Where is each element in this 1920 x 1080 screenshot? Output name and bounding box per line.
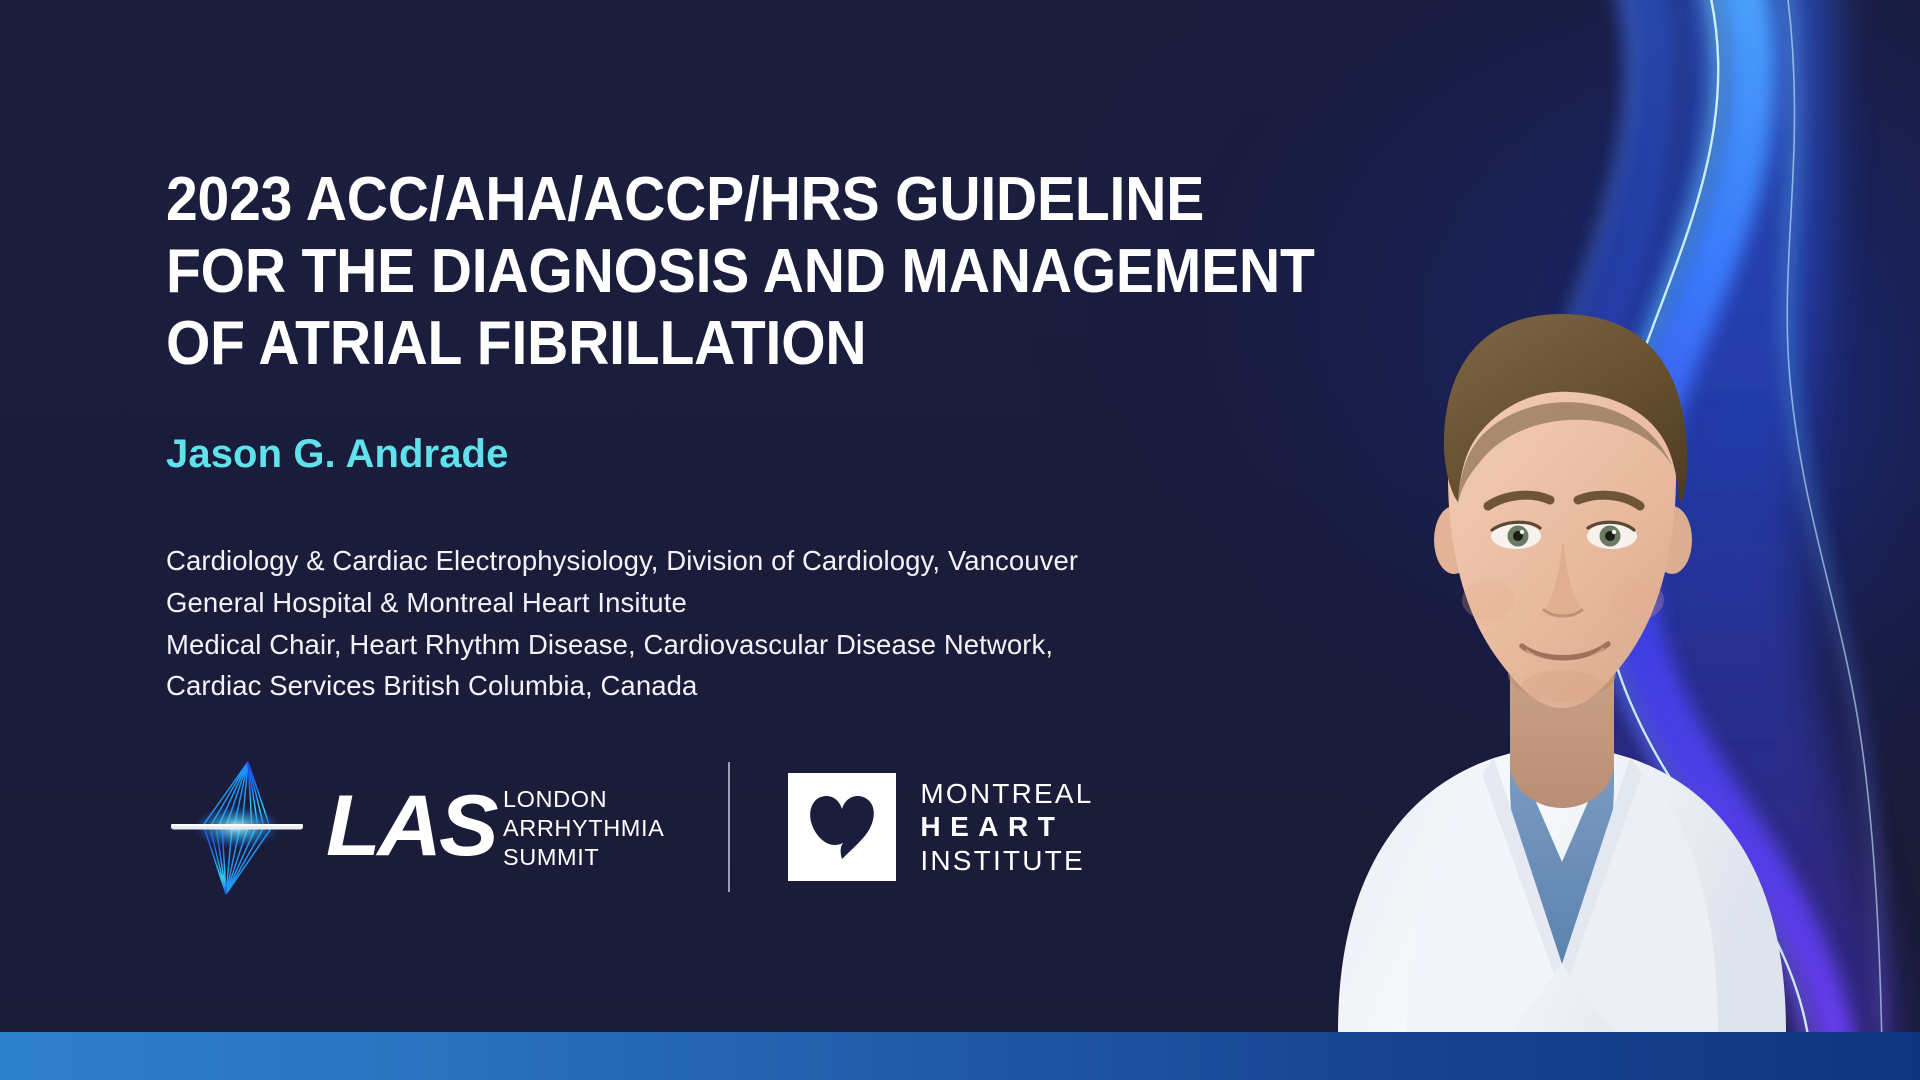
- las-subtitle-line-3: SUMMIT: [503, 843, 664, 872]
- las-wordmark: LAS LONDON ARRHYTHMIA SUMMIT: [326, 782, 664, 872]
- slide-title: 2023 ACC/AHA/ACCP/HRS GUIDELINE FOR THE …: [166, 164, 1482, 381]
- presentation-slide: 2023 ACC/AHA/ACCP/HRS GUIDELINE FOR THE …: [0, 0, 1920, 1080]
- mhi-wordmark: MONTREAL HEART INSTITUTE: [920, 777, 1093, 876]
- speaker-name: Jason G. Andrade: [166, 432, 508, 477]
- mhi-line-montreal: MONTREAL: [920, 777, 1093, 810]
- montreal-heart-institute-logo: MONTREAL HEART INSTITUTE: [788, 773, 1093, 881]
- las-subtitle-line-1: LONDON: [503, 785, 664, 814]
- las-subtitle-line-2: ARRHYTHMIA: [503, 814, 664, 843]
- mhi-line-heart: HEART: [920, 810, 1093, 843]
- affiliation-line-2: General Hospital & Montreal Heart Insitu…: [166, 582, 1346, 624]
- heart-icon: [788, 773, 896, 881]
- mhi-line-institute: INSTITUTE: [920, 844, 1093, 877]
- affiliation-line-4: Cardiac Services British Columbia, Canad…: [166, 665, 1346, 707]
- logo-row: LAS LONDON ARRHYTHMIA SUMMIT MONTREAL HE…: [166, 752, 1094, 902]
- las-letters: LAS: [326, 789, 496, 865]
- affiliation-line-1: Cardiology & Cardiac Electrophysiology, …: [166, 540, 1346, 582]
- las-diamond-mark-icon: [166, 752, 308, 902]
- las-subtitle: LONDON ARRHYTHMIA SUMMIT: [503, 782, 664, 872]
- affiliation-line-3: Medical Chair, Heart Rhythm Disease, Car…: [166, 624, 1346, 666]
- logo-divider: [728, 762, 730, 892]
- las-logo: LAS LONDON ARRHYTHMIA SUMMIT: [166, 752, 664, 902]
- speaker-affiliation: Cardiology & Cardiac Electrophysiology, …: [166, 540, 1346, 707]
- bottom-accent-bar: [0, 1032, 1920, 1080]
